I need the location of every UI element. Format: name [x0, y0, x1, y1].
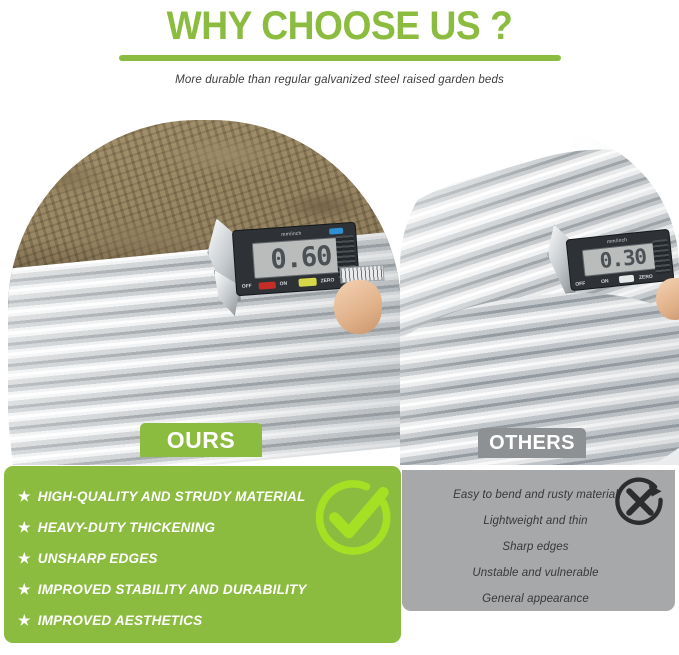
caliper-on-label: ON — [601, 278, 609, 285]
others-product-photo: mm/inch 0.30 OFF ON ZERO — [400, 128, 679, 465]
badge-ours: OURS — [140, 423, 262, 457]
hand-thumb — [656, 278, 679, 320]
caliper-zero-label: ZERO — [320, 277, 334, 284]
star-icon: ★ — [18, 581, 31, 598]
caliper-blue-button — [329, 228, 343, 235]
caliper-reading: 0.60 — [270, 242, 333, 273]
caliper-zero-label: ZERO — [639, 274, 653, 281]
badge-others: OTHERS — [478, 428, 586, 458]
x-circle-icon — [613, 475, 667, 529]
others-drawbacks-panel: Easy to bend and rusty material Lightwei… — [402, 470, 675, 611]
ours-product-photo: mm/inch 0.60 OFF ON ZERO — [8, 120, 401, 465]
caliper-body: mm/inch 0.30 OFF ON ZERO — [566, 229, 675, 292]
caliper-body: mm/inch 0.60 OFF ON ZERO — [232, 222, 360, 296]
caliper-grip-ridges — [652, 239, 670, 274]
caliper-on-label: ON — [280, 281, 288, 288]
list-item: Sharp edges — [402, 534, 669, 560]
title-underline-divider — [119, 55, 561, 61]
badge-others-label: OTHERS — [489, 432, 575, 455]
list-item: General appearance — [402, 586, 669, 611]
page-subtitle: More durable than regular galvanized ste… — [0, 74, 679, 86]
list-item-label: IMPROVED AESTHETICS — [38, 613, 203, 628]
badge-ours-label: OURS — [167, 427, 235, 454]
star-icon: ★ — [18, 519, 31, 536]
ours-digital-caliper: mm/inch 0.60 OFF ON ZERO — [208, 208, 383, 328]
caliper-zero-button — [619, 275, 635, 284]
comparison-photo-area: mm/inch 0.60 OFF ON ZERO mm/ — [0, 110, 679, 460]
check-circle-icon — [311, 474, 395, 558]
caliper-off-button — [259, 281, 276, 289]
caliper-off-label: OFF — [242, 283, 252, 290]
list-item: ★ IMPROVED STABILITY AND DURABILITY — [18, 574, 398, 605]
caliper-reading: 0.30 — [599, 246, 648, 272]
list-item-label: HEAVY-DUTY THICKENING — [38, 520, 215, 535]
caliper-off-label: OFF — [575, 281, 586, 288]
ours-features-panel: ★ HIGH-QUALITY AND STRUDY MATERIAL ★ HEA… — [4, 466, 401, 643]
others-digital-caliper: mm/inch 0.30 OFF ON ZERO — [548, 222, 679, 317]
star-icon: ★ — [18, 550, 31, 567]
list-item-label: HIGH-QUALITY AND STRUDY MATERIAL — [38, 489, 306, 504]
caliper-zero-button — [298, 278, 317, 287]
caliper-lcd-screen: 0.30 — [582, 242, 664, 277]
star-icon: ★ — [18, 612, 31, 629]
header: WHY CHOOSE US ? More durable than regula… — [0, 0, 679, 86]
list-item: ★ IMPROVED AESTHETICS — [18, 605, 398, 636]
hand-thumb — [334, 280, 382, 334]
page-title: WHY CHOOSE US ? — [24, 4, 655, 48]
star-icon: ★ — [18, 488, 31, 505]
caliper-unit-label: mm/inch — [281, 231, 302, 238]
list-item-label: UNSHARP EDGES — [38, 551, 158, 566]
list-item: Unstable and vulnerable — [402, 560, 669, 586]
caliper-unit-label: mm/inch — [607, 237, 628, 245]
list-item-label: IMPROVED STABILITY AND DURABILITY — [38, 582, 307, 597]
